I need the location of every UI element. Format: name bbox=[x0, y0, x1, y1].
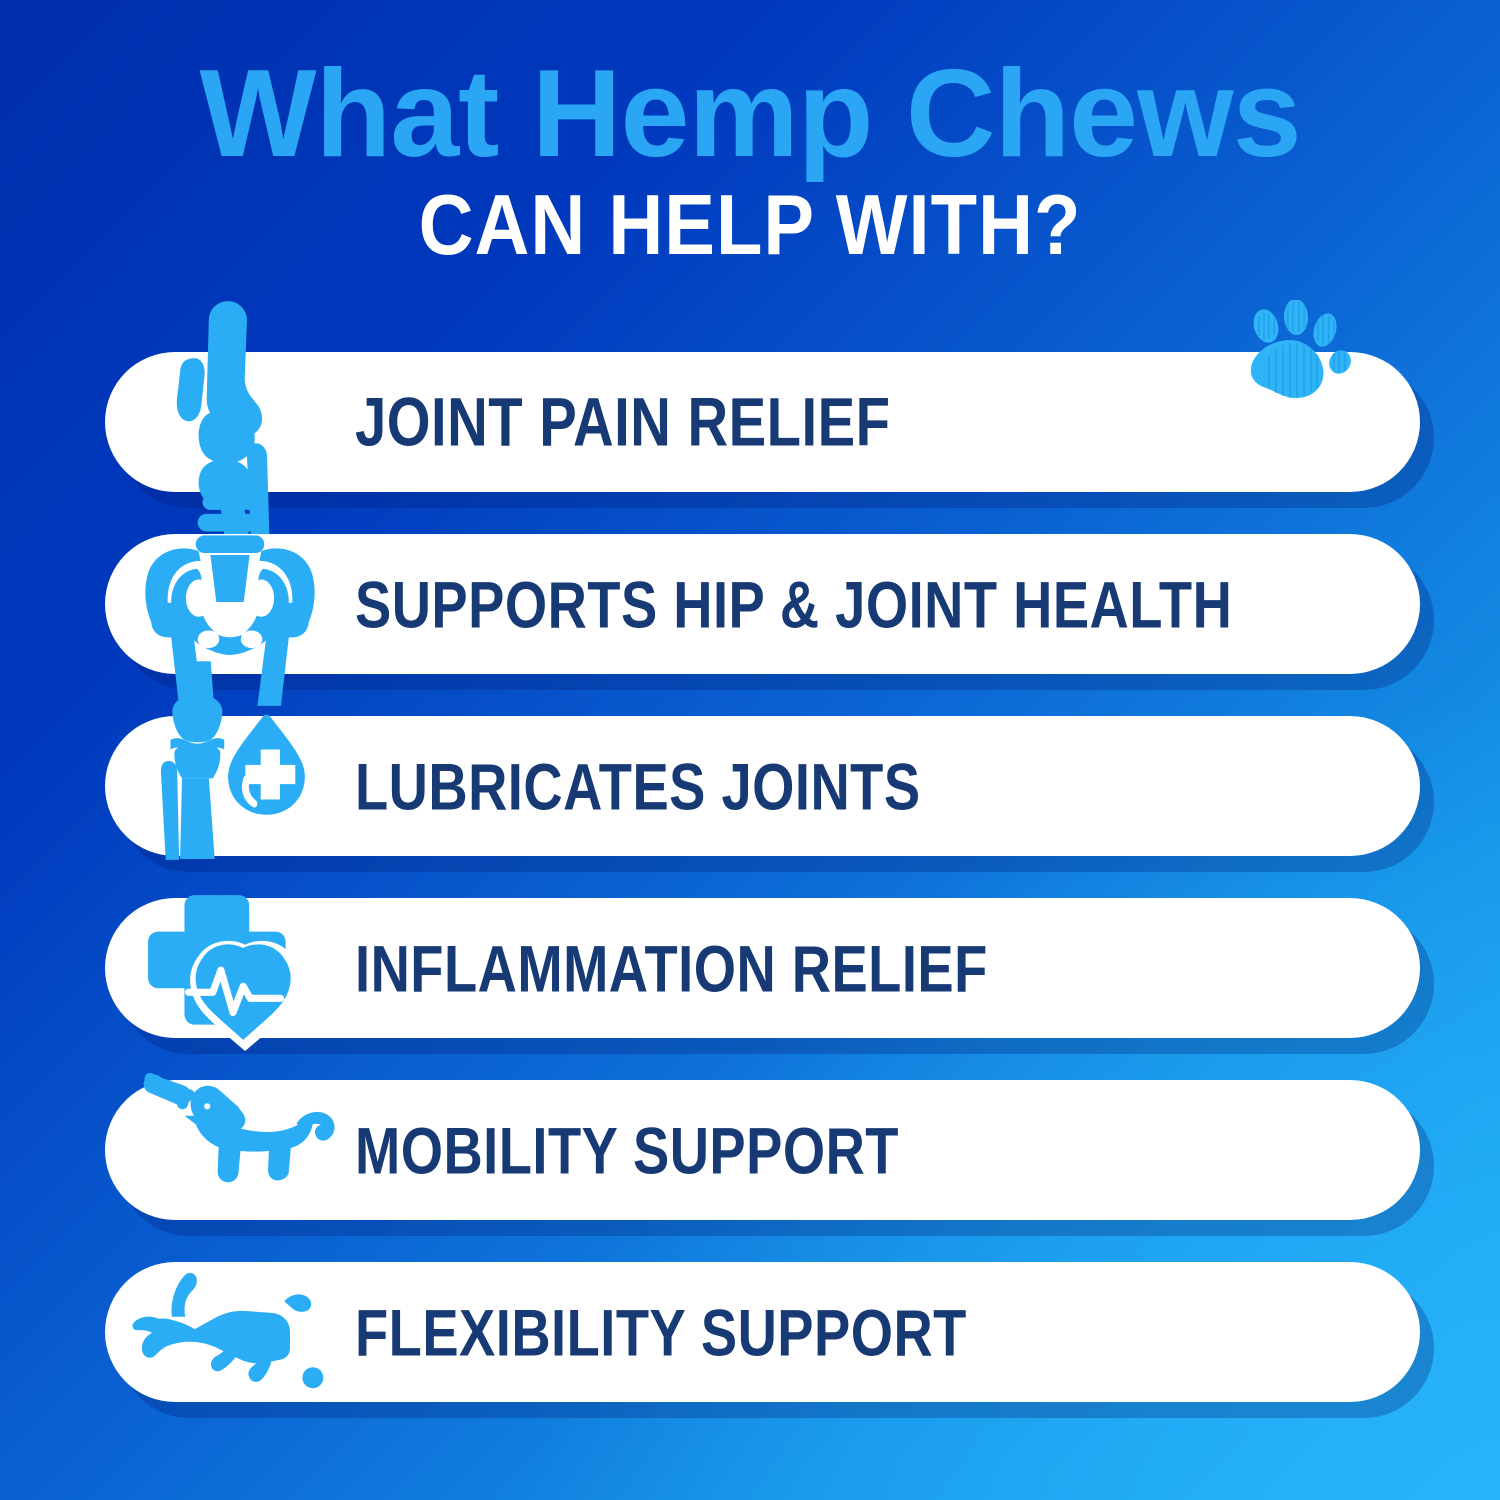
hip-pelvis-bone-icon bbox=[105, 534, 355, 674]
benefit-row-lubricates-joints[interactable]: LUBRICATES JOINTS bbox=[105, 716, 1420, 856]
dog-standing-with-bone-icon bbox=[105, 1080, 355, 1220]
benefit-row-inflammation-relief[interactable]: INFLAMMATION RELIEF bbox=[105, 898, 1420, 1038]
benefit-label: LUBRICATES JOINTS bbox=[355, 748, 921, 825]
benefit-row-supports-hip-joint-health[interactable]: SUPPORTS HIP & JOINT HEALTH bbox=[105, 534, 1420, 674]
benefit-row-mobility-support[interactable]: MOBILITY SUPPORT bbox=[105, 1080, 1420, 1220]
title-main-line: What Hemp Chews bbox=[0, 52, 1500, 176]
page-title: What Hemp Chews CAN HELP WITH? bbox=[0, 52, 1500, 264]
benefit-label: JOINT PAIN RELIEF bbox=[355, 382, 890, 461]
dog-jumping-with-ball-icon bbox=[105, 1262, 355, 1402]
benefit-label: SUPPORTS HIP & JOINT HEALTH bbox=[355, 566, 1232, 643]
paw-print-icon bbox=[1243, 300, 1353, 400]
benefit-label: INFLAMMATION RELIEF bbox=[355, 930, 988, 1007]
title-sub-line: CAN HELP WITH? bbox=[0, 183, 1500, 268]
joint-lubrication-droplet-icon bbox=[105, 716, 355, 856]
benefit-label: MOBILITY SUPPORT bbox=[355, 1112, 899, 1189]
medical-cross-heart-pulse-icon bbox=[105, 898, 355, 1038]
infographic-canvas: What Hemp Chews CAN HELP WITH? bbox=[0, 0, 1500, 1500]
benefit-row-joint-pain-relief[interactable]: JOINT PAIN RELIEF bbox=[105, 352, 1420, 492]
knee-joint-bone-icon bbox=[105, 352, 355, 492]
benefit-label: FLEXIBILITY SUPPORT bbox=[355, 1294, 967, 1371]
benefit-row-flexibility-support[interactable]: FLEXIBILITY SUPPORT bbox=[105, 1262, 1420, 1402]
